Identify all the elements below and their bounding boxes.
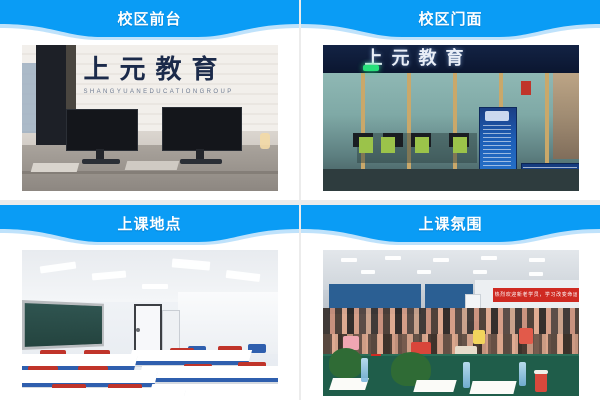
banner-campus-facade: 校区门面 bbox=[301, 0, 600, 40]
photo-image: 热烈欢迎新老学员，学习改变命运知识改变人生 bbox=[323, 250, 579, 396]
drink-cup bbox=[535, 372, 547, 392]
green-exit-light bbox=[363, 65, 379, 71]
gallery-card-class-atmosphere[interactable]: 上课氛围 热烈欢迎新老学员，学习改变命运知识改变人生 bbox=[301, 205, 600, 400]
ceiling-light bbox=[473, 270, 487, 274]
ceiling-light bbox=[529, 272, 543, 276]
ceiling-light bbox=[481, 256, 497, 260]
banner-label: 上课地点 bbox=[0, 205, 299, 245]
banner-label: 校区门面 bbox=[301, 0, 600, 40]
green-chair bbox=[453, 137, 467, 153]
water-bottle bbox=[519, 362, 526, 386]
ceiling-light bbox=[142, 284, 168, 289]
paper-sheet bbox=[413, 380, 456, 392]
gallery-card-class-location[interactable]: 上课地点 bbox=[0, 205, 299, 400]
door-knob bbox=[136, 328, 140, 332]
photo-image: 上元教育 SHANGYUANEDUCATIONGROUP bbox=[22, 45, 278, 191]
banner-label: 上课氛围 bbox=[301, 205, 600, 245]
wall-logo-en: SHANGYUANEDUCATIONGROUP bbox=[84, 89, 274, 95]
keyboard-right bbox=[124, 161, 179, 170]
monitor-right bbox=[162, 107, 242, 151]
paper-sheet bbox=[469, 381, 516, 394]
ceiling-light bbox=[341, 258, 357, 262]
banner-campus-front-desk: 校区前台 bbox=[0, 0, 299, 40]
monitor-right-base bbox=[180, 159, 222, 164]
gallery-card-campus-facade[interactable]: 校区门面 上元教育 bbox=[301, 0, 600, 200]
banner-class-atmosphere: 上课氛围 bbox=[301, 205, 600, 245]
ceiling-light bbox=[417, 270, 431, 274]
attendee-clothing bbox=[519, 328, 533, 344]
warm-interior-glow bbox=[553, 73, 579, 159]
ceiling-light bbox=[361, 270, 375, 274]
chalkboard bbox=[22, 300, 104, 350]
storefront-sign-text: 上元教育 bbox=[365, 45, 473, 73]
monitor-left-base bbox=[82, 159, 120, 164]
ceiling-light bbox=[385, 256, 401, 260]
student-desk bbox=[137, 366, 277, 382]
wall-red-banner-text: 热烈欢迎新老学员，学习改变命运知识改变人生 bbox=[495, 288, 577, 302]
green-chair bbox=[381, 137, 395, 153]
green-chair bbox=[415, 137, 429, 153]
red-interior-sign bbox=[521, 81, 531, 95]
student-desk bbox=[22, 388, 186, 396]
wall-lamp bbox=[260, 133, 270, 149]
water-bottle bbox=[545, 332, 551, 352]
attendee-clothing bbox=[473, 330, 485, 344]
water-bottle bbox=[463, 362, 470, 388]
banner-stand-text-lines bbox=[483, 125, 511, 173]
photo-image: 上元教育 bbox=[323, 45, 579, 191]
banner-stand-logo bbox=[485, 111, 509, 121]
ceiling-light bbox=[529, 258, 545, 262]
banner-label: 校区前台 bbox=[0, 0, 299, 40]
photo-campus-front-desk[interactable]: 上元教育 SHANGYUANEDUCATIONGROUP bbox=[22, 45, 278, 191]
banner-class-location: 上课地点 bbox=[0, 205, 299, 245]
keyboard-left bbox=[30, 163, 79, 172]
wall-logo-cn: 上元教育 bbox=[84, 53, 264, 87]
photo-image bbox=[22, 250, 278, 396]
green-chair bbox=[359, 137, 373, 153]
ceiling-light bbox=[433, 258, 449, 262]
monitor-left bbox=[66, 109, 138, 151]
floor-band bbox=[323, 169, 579, 191]
photo-class-location[interactable] bbox=[22, 250, 278, 396]
gallery-card-campus-front-desk[interactable]: 校区前台 上元教育 SHANGYUANEDUCATIONGROUP bbox=[0, 0, 299, 200]
gallery-grid: 校区前台 上元教育 SHANGYUANEDUCATIONGROUP bbox=[0, 0, 600, 400]
photo-campus-facade[interactable]: 上元教育 bbox=[323, 45, 579, 191]
student-desk bbox=[127, 350, 251, 365]
water-bottle bbox=[361, 358, 368, 382]
potted-plant bbox=[329, 348, 363, 378]
drink-cup-lid bbox=[534, 370, 548, 374]
photo-class-atmosphere[interactable]: 热烈欢迎新老学员，学习改变命运知识改变人生 bbox=[323, 250, 579, 396]
